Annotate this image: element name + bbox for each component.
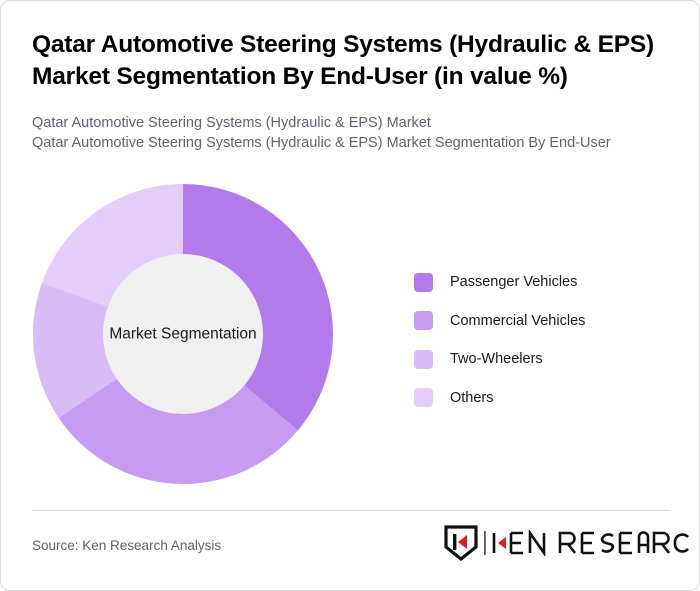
legend-swatch	[414, 273, 433, 292]
subtitle-line-2: Qatar Automotive Steering Systems (Hydra…	[32, 133, 672, 153]
legend-swatch	[414, 388, 433, 407]
legend-label: Commercial Vehicles	[450, 313, 585, 329]
ken-research-logo	[444, 525, 690, 561]
chart-card: Qatar Automotive Steering Systems (Hydra…	[0, 0, 700, 591]
donut-chart: Market Segmentation	[33, 184, 333, 484]
chart-area: Market Segmentation Passenger VehiclesCo…	[1, 171, 700, 501]
subtitle-group: Qatar Automotive Steering Systems (Hydra…	[32, 113, 672, 153]
legend-item[interactable]: Passenger Vehicles	[414, 263, 585, 302]
legend-swatch	[414, 350, 433, 369]
legend-label: Two-Wheelers	[450, 351, 543, 367]
legend-label: Others	[450, 390, 494, 406]
donut-hole	[103, 254, 263, 414]
chart-legend: Passenger VehiclesCommercial VehiclesTwo…	[414, 263, 585, 417]
legend-label: Passenger Vehicles	[450, 274, 577, 290]
donut-svg	[33, 184, 333, 484]
legend-swatch	[414, 311, 433, 330]
subtitle-line-1: Qatar Automotive Steering Systems (Hydra…	[32, 113, 672, 133]
legend-item[interactable]: Commercial Vehicles	[414, 302, 585, 341]
footer-divider	[32, 510, 670, 511]
legend-item[interactable]: Two-Wheelers	[414, 340, 585, 379]
source-note: Source: Ken Research Analysis	[32, 538, 221, 553]
page-title: Qatar Automotive Steering Systems (Hydra…	[32, 29, 672, 93]
ken-shield-icon	[444, 525, 478, 561]
ken-research-wordmark	[484, 530, 690, 556]
legend-item[interactable]: Others	[414, 379, 585, 418]
